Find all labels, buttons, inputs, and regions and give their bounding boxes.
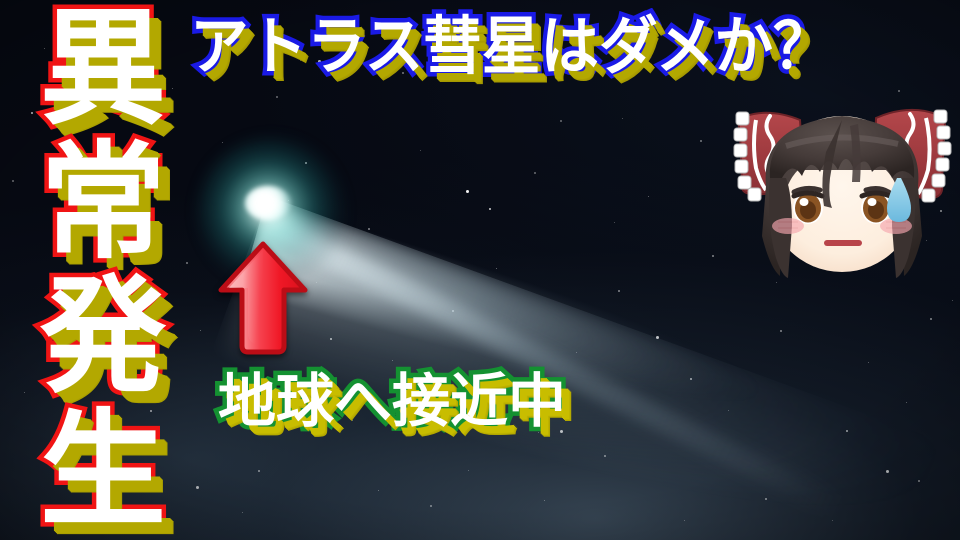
headline-vertical: 異 常 発 生: [28, 6, 178, 534]
page-title: アトラス彗星はダメか？: [190, 12, 897, 83]
yukkuri-reimu-face-icon: [726, 86, 958, 282]
headline-char-1: 異: [40, 6, 166, 132]
headline-char-4: 生: [40, 408, 166, 534]
eye-left: [793, 192, 823, 224]
eye-right: [861, 192, 891, 224]
mouth: [824, 240, 862, 246]
headline-char-3: 発: [40, 274, 166, 400]
up-arrow-icon: [218, 241, 308, 355]
caption-approaching-earth: 地球へ接近中: [218, 370, 566, 434]
headline-char-2: 常: [40, 140, 166, 266]
thumbnail-canvas: 異 常 発 生 アトラス彗星はダメか？ 地球へ接近中: [0, 0, 960, 540]
